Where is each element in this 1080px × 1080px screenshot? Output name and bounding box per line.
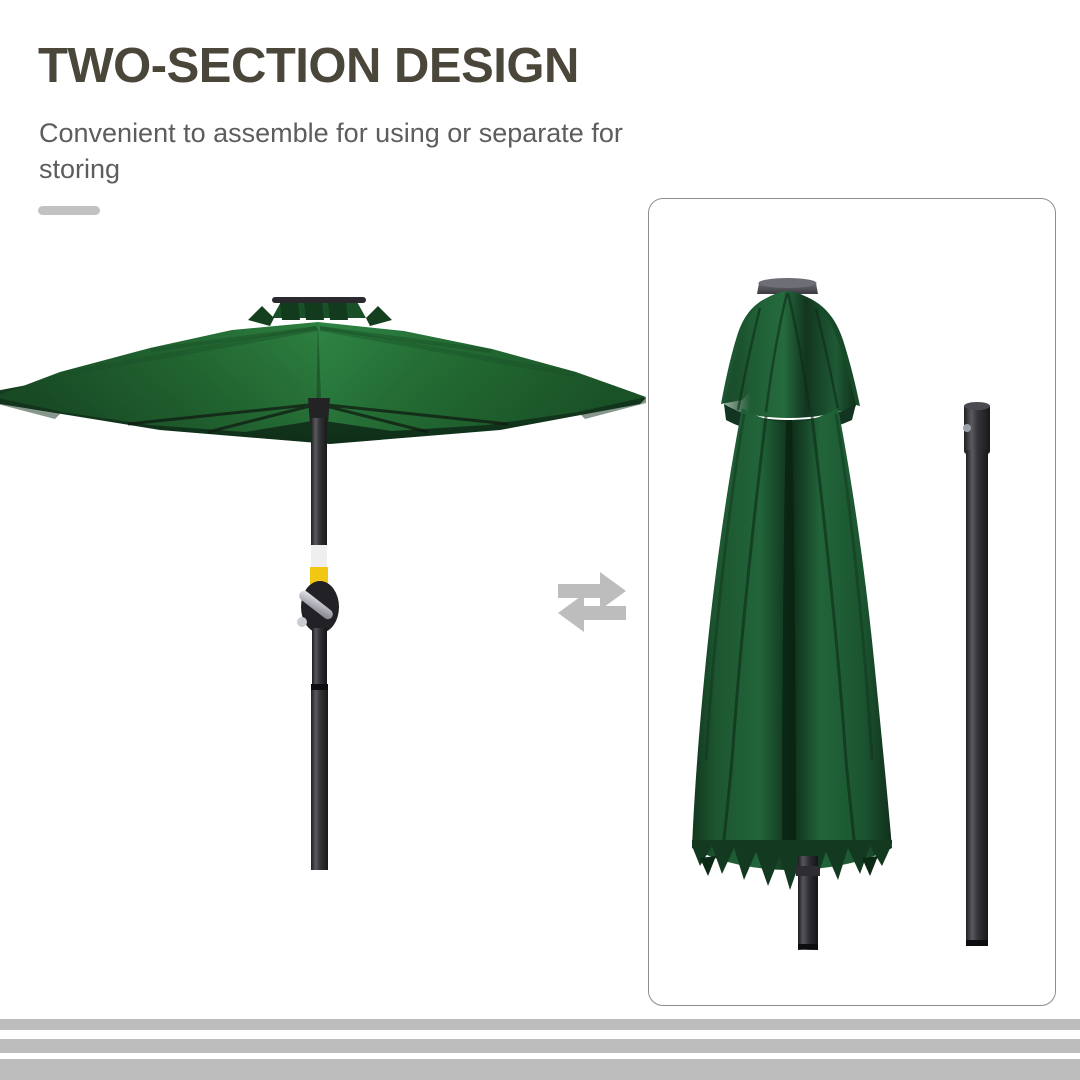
canopy-seam-r2	[320, 326, 576, 377]
pole-upper	[311, 418, 327, 558]
pole-joint	[312, 628, 327, 688]
footer-stripe-top	[0, 1019, 1080, 1030]
open-umbrella-illustration	[0, 297, 646, 870]
separated-parts-frame	[648, 198, 1056, 1006]
footer-stripe-middle	[0, 1039, 1080, 1053]
vent-cap	[272, 300, 366, 318]
canopy-hub	[308, 398, 330, 424]
canopy-underside	[0, 330, 646, 444]
page-subtitle: Convenient to assemble for using or sepa…	[39, 116, 639, 188]
canopy-right	[318, 322, 646, 431]
canopy-seam-l2	[60, 326, 318, 377]
vent-flap-left	[248, 306, 274, 326]
vent-flaps	[280, 301, 348, 320]
band-white	[311, 545, 327, 567]
pole-lower	[311, 686, 328, 870]
divider-dash	[38, 206, 100, 215]
canopy-seam-l1	[150, 326, 318, 352]
crank-housing	[301, 581, 339, 633]
canopy-ribs	[128, 404, 508, 432]
crank-handle	[297, 589, 335, 627]
canopy-edge-r	[578, 397, 646, 419]
canopy-center-seam	[316, 322, 322, 424]
exchange-arrows-icon	[558, 572, 626, 632]
vent-flap-right	[366, 306, 392, 326]
product-feature-slide: TWO-SECTION DESIGN Convenient to assembl…	[0, 0, 1080, 1080]
canopy-left	[0, 322, 318, 432]
footer-stripe-bottom	[0, 1059, 1080, 1080]
vent-top-ring	[272, 297, 366, 303]
canopy-edge-l	[0, 397, 62, 419]
pole-collar	[311, 684, 328, 690]
canopy-seam-r1	[320, 326, 492, 353]
page-title: TWO-SECTION DESIGN	[38, 42, 579, 92]
band-yellow	[310, 567, 328, 589]
